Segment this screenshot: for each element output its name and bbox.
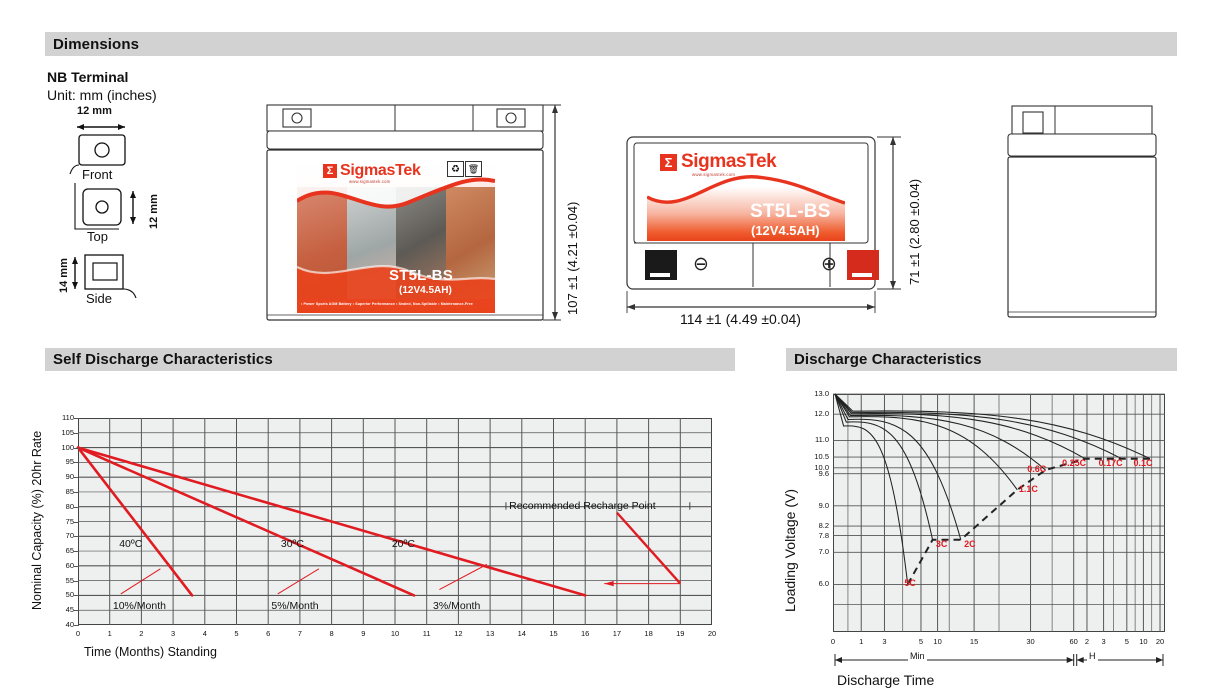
curve-label: 0.25C bbox=[1062, 458, 1086, 468]
y-tick: 110 bbox=[46, 413, 74, 422]
y-tick: 10.5 bbox=[799, 452, 829, 461]
y-tick-mark bbox=[74, 448, 79, 449]
y-tick: 100 bbox=[46, 443, 74, 452]
y-tick-mark bbox=[74, 522, 79, 523]
chart-annotation: 5%/Month bbox=[271, 600, 318, 612]
x-tick: 10 bbox=[928, 637, 948, 646]
discharge-plot-area bbox=[833, 394, 1165, 632]
chart-annotation: Recommended Recharge Point bbox=[509, 500, 656, 512]
x-tick: 5 bbox=[227, 629, 247, 638]
discharge-y-axis-title: Loading Voltage (V) bbox=[782, 489, 798, 612]
y-tick-mark bbox=[74, 625, 79, 626]
curve-label: 2C bbox=[964, 539, 976, 549]
x-tick: 15 bbox=[964, 637, 984, 646]
y-tick: 95 bbox=[46, 457, 74, 466]
curve-label: 5C bbox=[904, 578, 916, 588]
x-tick: 6 bbox=[258, 629, 278, 638]
self-discharge-plot-area bbox=[78, 418, 712, 625]
curve-label: 0.1C bbox=[1133, 458, 1152, 468]
x-tick: 20 bbox=[702, 629, 722, 638]
x-tick: 4 bbox=[195, 629, 215, 638]
self-discharge-y-axis-title: Nominal Capacity (%) 20hr Rate bbox=[30, 431, 44, 610]
x-tick: 9 bbox=[353, 629, 373, 638]
x-tick: 10 bbox=[385, 629, 405, 638]
y-tick: 6.0 bbox=[799, 579, 829, 588]
self-discharge-x-axis-title: Time (Months) Standing bbox=[84, 645, 217, 659]
y-tick: 85 bbox=[46, 487, 74, 496]
x-tick: 8 bbox=[322, 629, 342, 638]
y-tick: 105 bbox=[46, 428, 74, 437]
x-unit-hour-label: H bbox=[1087, 651, 1098, 661]
x-tick: 14 bbox=[512, 629, 532, 638]
x-tick: 19 bbox=[670, 629, 690, 638]
y-tick: 7.0 bbox=[799, 547, 829, 556]
chart-annotation: 3%/Month bbox=[433, 600, 480, 612]
curve-label: 1.1C bbox=[1019, 484, 1038, 494]
y-tick-mark bbox=[74, 477, 79, 478]
y-tick: 70 bbox=[46, 531, 74, 540]
y-tick-mark bbox=[74, 418, 79, 419]
y-tick: 40 bbox=[46, 620, 74, 629]
x-unit-min-label: Min bbox=[908, 651, 927, 661]
y-tick: 10.0 bbox=[799, 463, 829, 472]
x-tick: 11 bbox=[417, 629, 437, 638]
x-tick: 20 bbox=[1150, 637, 1170, 646]
y-tick-mark bbox=[74, 536, 79, 537]
chart-annotation: 20ºC bbox=[392, 538, 415, 550]
y-tick: 55 bbox=[46, 576, 74, 585]
chart-annotation: 40ºC bbox=[119, 538, 142, 550]
y-tick: 13.0 bbox=[799, 389, 829, 398]
y-tick-mark bbox=[74, 551, 79, 552]
y-tick: 9.0 bbox=[799, 501, 829, 510]
curve-label: 3C bbox=[936, 539, 948, 549]
y-tick: 80 bbox=[46, 502, 74, 511]
y-tick: 11.0 bbox=[799, 435, 829, 444]
x-tick: 0 bbox=[68, 629, 88, 638]
curve-label: 0.17C bbox=[1099, 458, 1123, 468]
x-tick: 15 bbox=[544, 629, 564, 638]
discharge-x-axis-title: Discharge Time bbox=[837, 672, 934, 688]
y-tick: 12.0 bbox=[799, 409, 829, 418]
x-tick: 12 bbox=[448, 629, 468, 638]
y-tick: 60 bbox=[46, 561, 74, 570]
y-tick-mark bbox=[74, 595, 79, 596]
curve-label: 0.6C bbox=[1027, 464, 1046, 474]
x-tick: 17 bbox=[607, 629, 627, 638]
y-tick: 45 bbox=[46, 605, 74, 614]
y-tick: 50 bbox=[46, 590, 74, 599]
y-tick-mark bbox=[74, 581, 79, 582]
x-tick: 3 bbox=[874, 637, 894, 646]
y-tick-mark bbox=[74, 492, 79, 493]
y-tick: 7.8 bbox=[799, 531, 829, 540]
x-tick: 7 bbox=[290, 629, 310, 638]
y-tick-mark bbox=[74, 566, 79, 567]
x-tick: 2 bbox=[131, 629, 151, 638]
y-tick: 75 bbox=[46, 517, 74, 526]
self-discharge-chart: 404550556065707580859095100105110 012345… bbox=[0, 0, 760, 700]
y-tick: 8.2 bbox=[799, 521, 829, 530]
chart-annotation: 10%/Month bbox=[113, 600, 166, 612]
y-tick-mark bbox=[74, 610, 79, 611]
discharge-chart: 6.07.07.88.29.09.610.010.511.012.013.0 0… bbox=[760, 0, 1219, 700]
y-tick: 90 bbox=[46, 472, 74, 481]
x-tick: 1 bbox=[100, 629, 120, 638]
x-tick: 3 bbox=[163, 629, 183, 638]
y-tick-mark bbox=[74, 433, 79, 434]
x-tick: 18 bbox=[639, 629, 659, 638]
x-tick: 13 bbox=[480, 629, 500, 638]
y-tick-mark bbox=[74, 507, 79, 508]
x-tick: 16 bbox=[575, 629, 595, 638]
x-tick: 0 bbox=[823, 637, 843, 646]
x-tick: 1 bbox=[851, 637, 871, 646]
y-tick-mark bbox=[74, 462, 79, 463]
chart-annotation: 30ºC bbox=[281, 538, 304, 550]
y-tick: 65 bbox=[46, 546, 74, 555]
x-tick: 30 bbox=[1021, 637, 1041, 646]
x-tick: 3 bbox=[1094, 637, 1114, 646]
